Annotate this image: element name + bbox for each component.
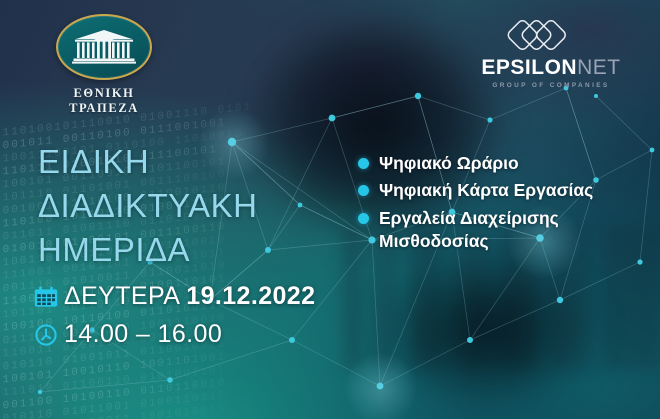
schedule-date-value: 19.12.2022 [186, 282, 315, 310]
schedule-time: 14.00 – 16.00 [64, 320, 222, 349]
topic-label: Ψηφιακό Ωράριο [379, 152, 519, 175]
event-headline: ΕΙΔΙΚΗ ΔΙΑΔΙΚΤΥΑΚΗ ΗΜΕΡΙΔΑ [38, 140, 258, 272]
bullet-dot-icon [358, 213, 369, 224]
epsilonnet-mark [476, 16, 626, 54]
schedule-day: ΔΕΥΤΕΡΑ [64, 282, 179, 310]
schedule-date-row: ΔΕΥΤΕΡΑ 19.12.2022 [34, 282, 315, 311]
headline-line-1: ΕΙΔΙΚΗ [38, 140, 258, 184]
list-item: Ψηφιακή Κάρτα Εργασίας [358, 179, 593, 202]
schedule-block: ΔΕΥΤΕΡΑ 19.12.2022 14.00 – 16.00 [34, 282, 315, 358]
headline-line-3: ΗΜΕΡΙΔΑ [38, 228, 258, 272]
headline-line-2: ΔΙΑΔΙΚΤΥΑΚΗ [38, 184, 258, 228]
bank-emblem-oval [56, 14, 152, 80]
clock-icon [34, 323, 64, 347]
three-overlapping-diamonds-icon [505, 17, 597, 53]
epsilonnet-word-secondary: NET [577, 56, 621, 79]
epsilonnet-word-primary: EPSILON [481, 56, 577, 79]
topics-list: Ψηφιακό Ωράριο Ψηφιακή Κάρτα Εργασίας Ερ… [358, 152, 593, 257]
topic-label: Ψηφιακή Κάρτα Εργασίας [379, 179, 593, 202]
neoclassical-building-icon [66, 27, 142, 67]
schedule-date: ΔΕΥΤΕΡΑ 19.12.2022 [64, 282, 315, 311]
epsilonnet-tagline: GROUP OF COMPANIES [476, 82, 626, 89]
topic-label: Εργαλεία Διαχείρισης [379, 207, 559, 230]
list-item: Ψηφιακό Ωράριο [358, 152, 593, 175]
schedule-time-row: 14.00 – 16.00 [34, 320, 315, 349]
epsilonnet-wordmark: EPSILONNET [476, 57, 626, 78]
topic-label-continuation: Μισθοδοσίας [379, 230, 559, 253]
topic-label-group: Εργαλεία Διαχείρισης Μισθοδοσίας [379, 207, 559, 254]
bank-name: ΕΘΝΙΚΗ ΤΡΑΠΕΖΑ [40, 86, 168, 116]
bullet-dot-icon [358, 185, 369, 196]
webinar-banner: 0110100101110010 01001110 0101 1001011 0… [0, 0, 660, 419]
epsilonnet-logo: EPSILONNET GROUP OF COMPANIES [476, 16, 626, 89]
bullet-dot-icon [358, 158, 369, 169]
calendar-icon [34, 285, 64, 309]
national-bank-logo: ΕΘΝΙΚΗ ΤΡΑΠΕΖΑ [40, 14, 168, 116]
list-item: Εργαλεία Διαχείρισης Μισθοδοσίας [358, 207, 593, 254]
